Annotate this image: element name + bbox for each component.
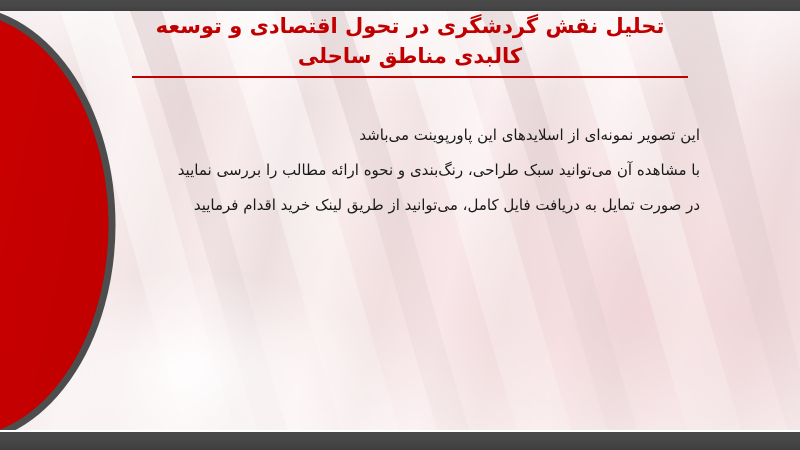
bottom-accent-band <box>0 432 800 450</box>
red-ellipse-decoration <box>0 5 120 445</box>
slide-body-text: این تصویر نمونه‌ای از اسلایدهای این پاور… <box>120 118 700 223</box>
title-underline-rule <box>132 76 688 78</box>
body-text-line-1: این تصویر نمونه‌ای از اسلایدهای این پاور… <box>120 118 700 153</box>
slide-title-line-2: کالبدی مناطق ساحلی <box>110 41 710 71</box>
slide-title: تحلیل نقش گردشگری در تحول اقتصادی و توسع… <box>110 11 710 78</box>
presentation-slide: تحلیل نقش گردشگری در تحول اقتصادی و توسع… <box>0 0 800 450</box>
slide-title-line-1: تحلیل نقش گردشگری در تحول اقتصادی و توسع… <box>110 11 710 41</box>
body-text-line-2: با مشاهده آن می‌توانید سبک طراحی، رنگ‌بن… <box>120 153 700 188</box>
body-text-line-3: در صورت تمایل به دریافت فایل کامل، می‌تو… <box>120 188 700 223</box>
top-accent-band <box>0 0 800 11</box>
bottom-hairline-divider <box>0 430 800 432</box>
red-ellipse-shape <box>0 9 112 441</box>
